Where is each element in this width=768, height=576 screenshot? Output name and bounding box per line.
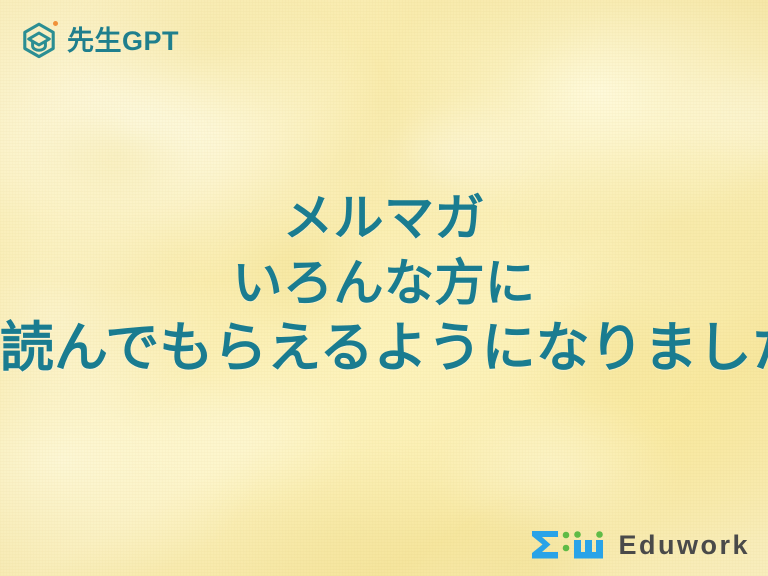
brand-accent-dot (53, 21, 58, 26)
headline-line-1: メルマガ (0, 186, 768, 251)
graduation-cap-hexagon-icon (18, 20, 60, 62)
brand-name: 先生GPT (67, 28, 179, 55)
slide-canvas: 先生GPT メルマガ いろんな方に 読んでもらえるようになりました Eduwor… (0, 0, 768, 576)
eduwork-logo: Eduwork (530, 528, 750, 562)
headline-line-2: いろんな方に (0, 251, 768, 316)
headline: メルマガ いろんな方に 読んでもらえるようになりました (0, 186, 768, 382)
brand-logo: 先生GPT (18, 20, 179, 62)
eduwork-wordmark: Eduwork (618, 532, 750, 559)
eduwork-ew-mark-icon (530, 528, 606, 562)
headline-line-3: 読んでもらえるようになりました (0, 316, 768, 382)
